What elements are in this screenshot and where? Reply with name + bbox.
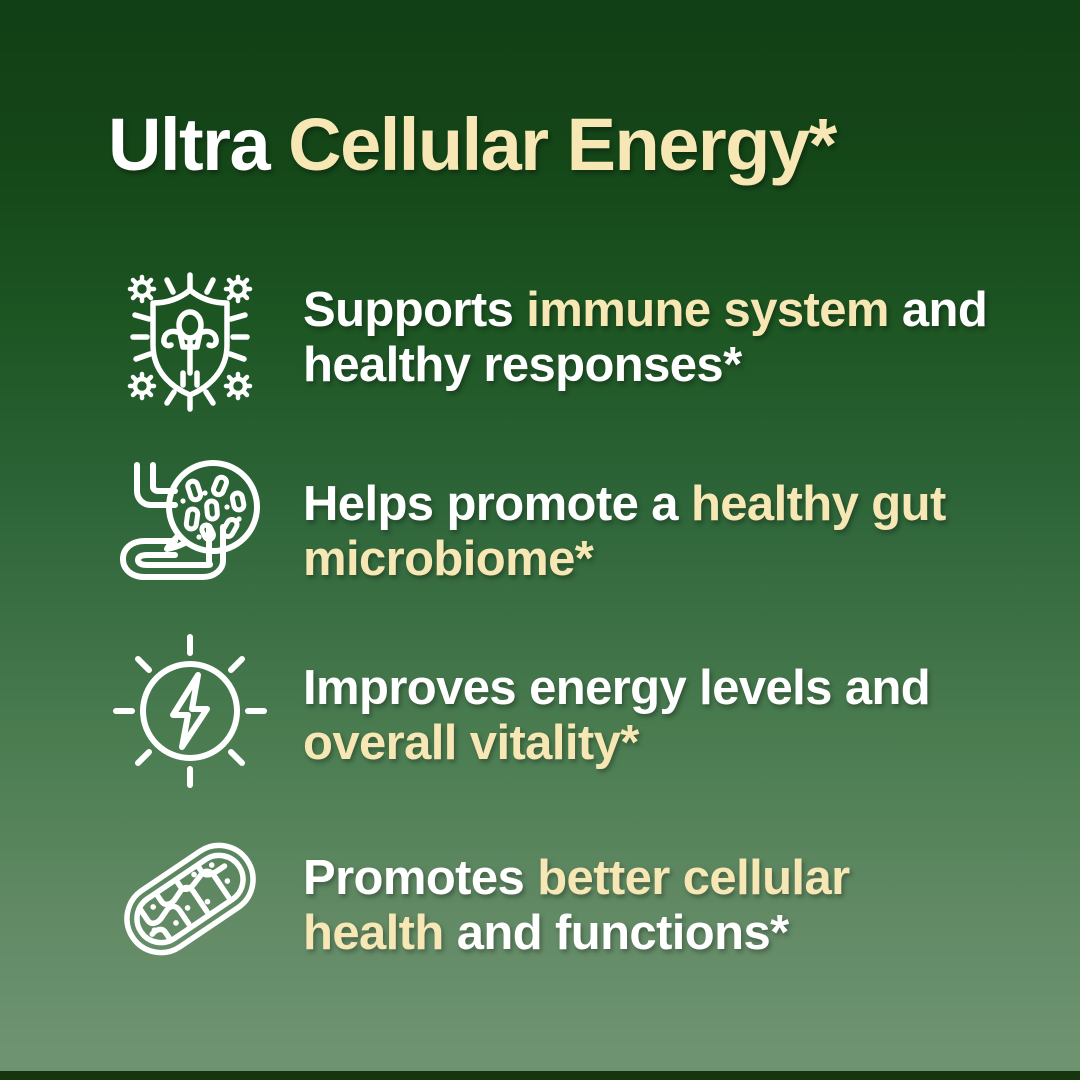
benefit-text: Helps promote a healthy gut microbiome* (303, 477, 1003, 587)
sun-lightning-bolt-icon (100, 629, 280, 794)
list-item: Improves energy levels and overall vital… (0, 631, 1080, 819)
list-item: Helps promote a healthy gut microbiome* (0, 443, 1080, 631)
shield-person-germs-icon (100, 253, 280, 423)
benefit-text-pre: Helps promote a (303, 477, 691, 531)
benefit-text-accent: overall vitality* (303, 716, 639, 770)
benefit-text-accent: immune system (526, 283, 889, 337)
benefit-text: Improves energy levels and overall vital… (303, 661, 1003, 771)
benefit-text: Supports immune system and healthy respo… (303, 283, 1003, 393)
gut-microbiome-icon (100, 449, 280, 599)
headline-primary: Ultra (108, 103, 288, 186)
bottom-edge-strip (0, 1071, 1080, 1080)
benefits-list: Supports immune system and healthy respo… (0, 255, 1080, 1007)
headline-accent: Cellular Energy* (288, 103, 836, 186)
benefit-text-post: and functions* (444, 906, 789, 960)
list-item: Supports immune system and healthy respo… (0, 255, 1080, 443)
mitochondria-icon (100, 827, 280, 972)
product-benefits-poster: Ultra Cellular Energy* (0, 0, 1080, 1080)
benefit-text: Promotes better cellular health and func… (303, 851, 1003, 961)
benefit-text-pre: Supports (303, 283, 526, 337)
benefit-text-pre: Promotes (303, 851, 537, 905)
benefit-text-pre: Improves energy levels and (303, 661, 930, 715)
list-item: Promotes better cellular health and func… (0, 819, 1080, 1007)
page-title: Ultra Cellular Energy* (108, 108, 1008, 182)
